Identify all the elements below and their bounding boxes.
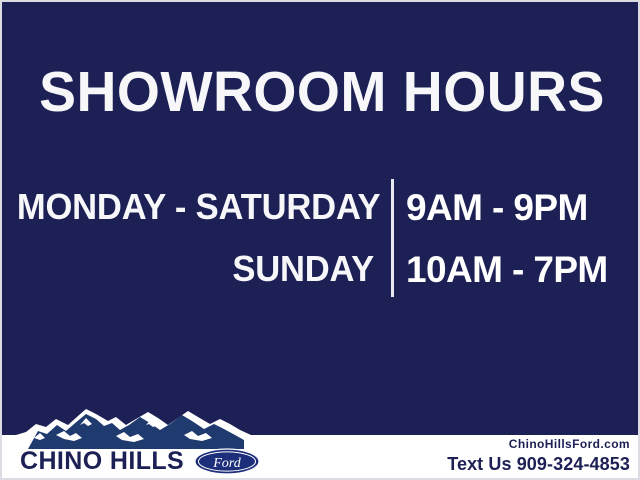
hours-time-value: 10AM - 7PM (406, 251, 608, 288)
website-url[interactable]: ChinoHillsFord.com (447, 437, 630, 453)
mountains-icon (16, 405, 251, 449)
hours-time-value: 9AM - 9PM (406, 189, 588, 226)
hours-day-label: SUNDAY (17, 251, 374, 287)
sign-footer: CHINO HILLS Ford ChinoHillsFord.com Text… (2, 435, 640, 480)
page-title: SHOWROOM HOURS (12, 64, 633, 121)
ford-logo-icon: Ford (194, 448, 260, 475)
brand-name: CHINO HILLS (20, 449, 184, 474)
phone-number[interactable]: Text Us 909-324-4853 (447, 453, 630, 476)
hours-table: MONDAY - SATURDAY 9AM - 9PM SUNDAY 10AM … (2, 177, 640, 299)
contact-info: ChinoHillsFord.com Text Us 909-324-4853 (447, 437, 630, 475)
showroom-hours-sign: SHOWROOM HOURS MONDAY - SATURDAY 9AM - 9… (0, 0, 640, 480)
svg-text:Ford: Ford (212, 456, 241, 471)
dealership-logo: CHINO HILLS Ford (16, 405, 266, 480)
hours-row: MONDAY - SATURDAY 9AM - 9PM (2, 179, 640, 235)
brand-row: CHINO HILLS Ford (20, 448, 260, 475)
hours-day-label: MONDAY - SATURDAY (17, 189, 374, 225)
hours-row: SUNDAY 10AM - 7PM (2, 241, 640, 297)
